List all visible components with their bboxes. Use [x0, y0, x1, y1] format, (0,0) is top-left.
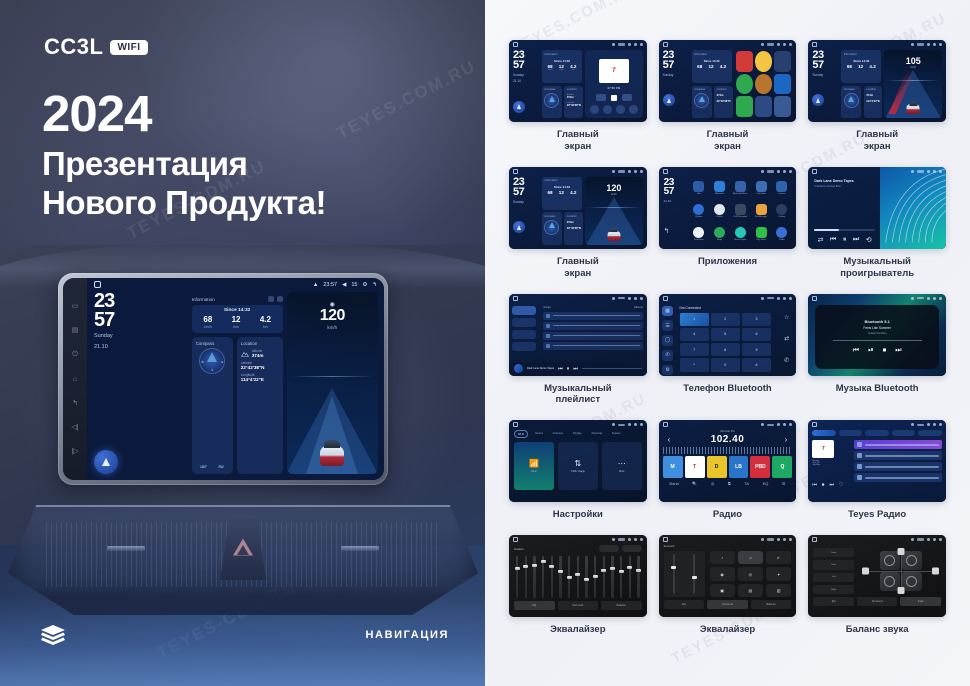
back-icon[interactable]: ↰	[72, 400, 78, 407]
app-icon-play-store[interactable]	[736, 96, 753, 117]
stereo-button[interactable]: ⧉	[728, 481, 731, 486]
tab-fm1[interactable]	[812, 430, 836, 436]
equalizer-bands[interactable]	[514, 556, 642, 598]
pause-icon[interactable]: ⏸	[567, 366, 570, 372]
tab-sound[interactable]: Sound	[532, 430, 546, 438]
prev-icon[interactable]: ⏮	[830, 236, 836, 244]
sidebar-item-artists[interactable]	[512, 342, 536, 351]
dial-key[interactable]: 8	[711, 343, 740, 356]
clock-weekday: Sunday	[513, 200, 539, 204]
altitude-value: 374m	[717, 94, 731, 97]
tab-wifi[interactable]: Wi-Fi	[514, 430, 528, 438]
grid-item[interactable]: 23 57 21.10 ↰ Wifi Bluetooth Bluetooth M…	[659, 167, 797, 280]
hud-speed-unit: km/h	[884, 66, 942, 69]
stat-value: 12	[858, 65, 863, 70]
thumbnail-apps[interactable]: 23 57 21.10 ↰ Wifi Bluetooth Bluetooth M…	[659, 167, 797, 249]
grid-item[interactable]: 23 57 Sunday Information Since 14:32 68	[659, 40, 797, 153]
grid-item-caption: Музыкальный плейлист	[544, 383, 612, 407]
app-item[interactable]: Camera	[773, 178, 792, 199]
grid-item[interactable]: 23 57 Sunday Information Since 14:32 68	[509, 167, 647, 280]
app-item[interactable]: Wifi	[689, 178, 708, 199]
hero-title-line1: Презентация	[42, 145, 326, 184]
stat-value: 4.2	[869, 65, 875, 70]
eq-band-slider[interactable]	[585, 556, 587, 598]
balance-tabs[interactable]: EQ Surround Fade	[813, 597, 941, 606]
clock-minutes: 57	[513, 187, 539, 197]
app-item[interactable]: Gallery	[773, 201, 792, 222]
stat-unit: km/h	[548, 69, 553, 71]
app-item[interactable]: Chrome	[689, 201, 708, 222]
balance-pad[interactable]	[860, 548, 941, 594]
preset-button[interactable]: D	[707, 456, 727, 478]
stat-unit: km	[260, 325, 271, 329]
app-icon-music[interactable]	[736, 51, 753, 72]
tab-songs[interactable]: Songs	[543, 306, 550, 309]
tab-surround[interactable]: Surround	[857, 597, 898, 606]
station-row[interactable]	[854, 440, 942, 449]
app-label: DVR Recorder	[734, 216, 748, 218]
eq-band-slider[interactable]	[629, 556, 631, 598]
stop-icon[interactable]: ⏹	[883, 347, 887, 355]
app-item[interactable]: Carlink	[710, 201, 729, 222]
stat-value: 68	[203, 316, 212, 324]
shuffle-icon[interactable]: ⇄	[818, 236, 824, 244]
app-item[interactable]: Radio	[773, 224, 792, 245]
compass-title: Compass	[544, 215, 559, 218]
tab-channels[interactable]	[839, 430, 863, 436]
track-artist: Cranberry Groove Bird	[814, 185, 875, 188]
balance-node-left[interactable]	[862, 568, 869, 575]
thumbnail-home-media[interactable]: 23 57 Sunday 21.10 Information Since 14:…	[509, 40, 647, 122]
dial-key[interactable]: 3	[742, 313, 771, 326]
preset-rear[interactable]: Rear	[813, 560, 854, 569]
equalizer-tabs[interactable]: EQ Surround Balance	[664, 600, 792, 609]
preset-button[interactable]: ◎	[738, 567, 763, 580]
stat-speed: 68 km/h	[203, 316, 212, 329]
dial-key[interactable]: 0	[711, 358, 740, 371]
grid-item[interactable]: Surround ♪ ♫ ♬ ◉ ◎	[659, 535, 797, 636]
preset-button[interactable]: ▣	[710, 584, 735, 597]
dial-key[interactable]: #	[742, 358, 771, 371]
tab-balance[interactable]: Balance	[751, 600, 792, 609]
tab-common[interactable]: Common	[550, 430, 567, 438]
app-label: Bluetooth Music	[733, 193, 748, 195]
altitude-value: 374m	[567, 221, 581, 224]
grid-item[interactable]: Front Rear Left Right	[808, 535, 946, 636]
navigation-hud-panel[interactable]: 120 km/h	[585, 177, 643, 245]
app-icon-navi[interactable]	[774, 51, 791, 72]
app-item[interactable]: Music Player	[731, 224, 750, 245]
next-icon[interactable]: ⏭	[829, 482, 834, 488]
preset-right[interactable]: Right	[813, 585, 854, 594]
prev-icon[interactable]	[596, 94, 606, 101]
gear-icon[interactable]: ⚙	[362, 282, 367, 288]
dial-key[interactable]: 7	[680, 343, 709, 356]
next-icon[interactable]: ⏭	[573, 366, 578, 372]
shuffle-icon[interactable]	[590, 105, 599, 114]
tab-display[interactable]: Display	[570, 430, 585, 438]
app-shortcuts[interactable]	[735, 50, 793, 118]
balance-node-rear[interactable]	[897, 587, 904, 594]
pause-icon[interactable]: ⏸	[843, 236, 847, 244]
preset-button[interactable]: ▤	[738, 584, 763, 597]
grid-item[interactable]: ▦ ☰ ◯ ✆ ⚙ Not Connected 1 2 3	[659, 294, 797, 407]
thumbnail-equalizer-surround[interactable]: Surround ♪ ♫ ♬ ◉ ◎	[659, 535, 797, 617]
thumbnail-settings[interactable]: Wi-Fi Sound Common Display Personal Syst…	[509, 420, 647, 502]
favorite-icon[interactable]: ♡	[839, 482, 843, 488]
loc-button[interactable]: ◎	[711, 481, 715, 486]
app-item[interactable]: Bluetooth	[710, 178, 729, 199]
tab-eq[interactable]: EQ	[664, 600, 705, 609]
tab-eq[interactable]: EQ	[813, 597, 854, 606]
app-item[interactable]: Kinoafisha	[689, 224, 708, 245]
head-unit-screen[interactable]: ▲ 23:57 ◀ 15 ⚙ ↰ 23 57	[87, 278, 384, 480]
surround-presets[interactable]: ♪ ♫ ♬ ◉ ◎ ✦ ▣ ▤ ▥	[710, 551, 792, 597]
preset-front[interactable]: Front	[813, 548, 854, 557]
clock-weekday: Sunday	[663, 73, 689, 77]
tab-surround[interactable]: Surround	[558, 601, 599, 610]
hud-speed: 105	[884, 57, 942, 66]
app-item[interactable]: Calculator	[752, 178, 771, 199]
track-row[interactable]	[543, 332, 642, 340]
next-icon[interactable]: ⏭	[895, 347, 901, 355]
grid-item[interactable]: Custom	[509, 535, 647, 636]
home-icon[interactable]: ⌂	[73, 376, 77, 383]
app-item[interactable]: Maps	[710, 224, 729, 245]
settings-card-traffic[interactable]: ⇅ Traffic Usage	[558, 442, 598, 490]
radio-frequency: 102.40	[711, 434, 745, 445]
eq-band-slider[interactable]	[594, 556, 596, 598]
app-launcher-grid[interactable]: Wifi Bluetooth Bluetooth Music Calculato…	[689, 178, 791, 245]
stat-unit: km	[570, 69, 576, 71]
settings-card-label: More	[619, 470, 624, 473]
balance-presets[interactable]: Front Rear Left Right	[813, 548, 854, 594]
stop-icon[interactable]	[611, 95, 617, 101]
radio-band-label: Mexican FM	[663, 430, 793, 433]
compass-dial	[544, 220, 559, 235]
contacts-icon[interactable]: ☰	[662, 320, 673, 331]
radio-presets[interactable]: M T D LB PBD Q	[663, 456, 793, 478]
app-icon-video[interactable]	[774, 74, 791, 95]
settings-tabs[interactable]: Wi-Fi Sound Common Display Personal Syst…	[514, 430, 642, 438]
balance-node-right[interactable]	[932, 568, 939, 575]
bluetooth-version: Bluetooth 5.1	[864, 319, 889, 324]
play-pause-icon[interactable]: ⏯	[868, 347, 874, 355]
repeat-icon[interactable]: ⟲	[866, 236, 872, 244]
app-icon-radio[interactable]	[755, 74, 772, 95]
slider[interactable]	[693, 554, 695, 594]
preset-button[interactable]: ♫	[738, 551, 763, 564]
thumbnail-home-apps[interactable]: 23 57 Sunday Information Since 14:32 68	[659, 40, 797, 122]
hero-footer	[0, 596, 485, 686]
dial-key[interactable]: 6	[742, 328, 771, 341]
thumbnail-radio[interactable]: Mexican FM ‹ 102.40 › M T D LB PBD	[659, 420, 797, 502]
tab-fade[interactable]: Fade	[900, 597, 941, 606]
app-label: Gallery	[779, 216, 786, 218]
preset-button[interactable]: ◉	[710, 567, 735, 580]
preset-button[interactable]: ♬	[766, 551, 791, 564]
stat-value: 12	[559, 191, 564, 196]
preset-left[interactable]: Left	[813, 573, 854, 582]
eq-band-slider[interactable]	[620, 556, 622, 598]
compass-dial	[544, 93, 559, 108]
surround-sliders[interactable]	[664, 551, 705, 597]
dialpad-icon[interactable]: ▦	[662, 306, 673, 317]
grid-item[interactable]: 23 57 Sunday 21.10 Information Since 14:…	[509, 40, 647, 153]
tab-eq[interactable]: EQ	[514, 601, 555, 610]
track-row[interactable]	[543, 312, 642, 320]
list-icon[interactable]: ☰	[782, 481, 786, 486]
altitude-value: 374m	[252, 353, 264, 358]
grid-item-caption: Музыкальный проигрыватель	[840, 256, 914, 280]
dial-key[interactable]: 2	[711, 313, 740, 326]
volume-down-icon[interactable]: ◁|	[71, 424, 78, 431]
star-icon[interactable]: ☆	[784, 314, 789, 321]
tab-albums[interactable]: Albums	[634, 306, 643, 309]
app-label: Kinoafisha	[694, 239, 704, 241]
dial-key[interactable]: *	[680, 358, 709, 371]
call-history-icon[interactable]: ✆	[662, 350, 673, 361]
more-icon: ⋯	[618, 459, 626, 468]
navigation-arrow-icon[interactable]	[663, 94, 675, 106]
refresh-icon[interactable]	[268, 296, 274, 302]
radio-toolbar[interactable]: Band 🔍 ◎ ⧉ TA EQ ☰	[663, 481, 793, 486]
tab-sleep[interactable]	[865, 430, 889, 436]
tab-surround[interactable]: Surround	[707, 600, 748, 609]
thumbnail-bluetooth-phone[interactable]: ▦ ☰ ◯ ✆ ⚙ Not Connected 1 2 3	[659, 294, 797, 376]
preset-button[interactable]: ✦	[766, 567, 791, 580]
app-item[interactable]: DVR Recorder	[731, 201, 750, 222]
compass-e: E	[221, 360, 223, 364]
grid-item[interactable]: Bluetooth 5.1 Feels Like Summer Coldest …	[808, 294, 946, 407]
dial-key[interactable]: 4	[680, 328, 709, 341]
settings-card-label: Wi-Fi	[531, 470, 537, 473]
app-icon-grid[interactable]	[774, 96, 791, 117]
album-art: T	[812, 440, 834, 458]
app-label: Maps	[717, 239, 722, 241]
app-icon-settings[interactable]	[755, 51, 772, 72]
head-unit-side-rail[interactable]: ▭ ▤ ⏻ ⌂ ↰ ◁| |▷	[63, 278, 87, 480]
now-playing-bar[interactable]: Dark Lane Demo Tapes ⏮ ⏸ ⏭	[509, 362, 647, 376]
grid-item[interactable]: 23 57 Sunday Information Since 14:32 68	[808, 40, 946, 153]
clock-weekday: Sunday	[513, 73, 539, 77]
eq-band-slider[interactable]	[533, 556, 535, 598]
eq-icon[interactable]: ▤	[72, 327, 79, 334]
progress-bar[interactable]	[814, 229, 875, 231]
app-item[interactable]: Play Store	[752, 224, 771, 245]
traffic-icon: ⇅	[574, 459, 581, 468]
eq-band-slider[interactable]	[516, 556, 518, 598]
app-icon-files[interactable]	[755, 96, 772, 117]
reset-button[interactable]	[622, 545, 642, 552]
eq-band-slider[interactable]	[637, 556, 639, 598]
compass-s: S	[211, 368, 213, 372]
sidebar-item-tracks[interactable]	[512, 306, 536, 315]
next-station-icon[interactable]: ›	[785, 435, 788, 444]
compass-title: Compass	[694, 88, 709, 91]
watermark: TEYES.COM.RU	[334, 56, 480, 143]
station-row[interactable]	[854, 473, 942, 482]
slider[interactable]	[673, 554, 675, 594]
station-row[interactable]	[854, 451, 942, 460]
progress-bar[interactable]	[833, 340, 922, 341]
navigation-hud-panel[interactable]: 105 km/h	[884, 50, 942, 118]
back-icon[interactable]: ↰	[372, 282, 377, 288]
phone-icon[interactable]: ✆	[784, 357, 789, 364]
tab-system[interactable]: System	[609, 430, 624, 438]
clock-minutes: 57	[663, 60, 689, 70]
dial-key[interactable]: 1	[680, 313, 709, 326]
track-row[interactable]	[543, 342, 642, 350]
eq-band-slider[interactable]	[559, 556, 561, 598]
tab-balance[interactable]: Balance	[601, 601, 642, 610]
stat-value: 12	[232, 316, 241, 324]
mute-icon[interactable]: ▭	[72, 303, 79, 310]
app-label: Radio	[779, 239, 784, 241]
since-label: Since 14:32	[544, 185, 579, 189]
navigation-hud-panel[interactable]: ◉ 120 km/h	[287, 292, 378, 474]
prev-station-icon[interactable]: ‹	[668, 435, 671, 444]
contacts-icon[interactable]: ⇄	[784, 335, 789, 342]
speaker-rear-right	[902, 572, 922, 591]
compass-direction-pill	[553, 110, 560, 115]
clock-minutes: 57	[664, 187, 686, 197]
media-widget[interactable]: T 07:50 PM	[585, 50, 643, 118]
thumbnail-home-nav-105[interactable]: 23 57 Sunday Information Since 14:32 68	[808, 40, 946, 122]
thumbnail-bluetooth-music[interactable]: Bluetooth 5.1 Feels Like Summer Coldest …	[808, 294, 946, 376]
tab-personal[interactable]: Personal	[589, 430, 605, 438]
clock-minutes: 57	[94, 311, 188, 330]
stat-unit: km/h	[203, 325, 212, 329]
settings-card-wifi[interactable]: 📶 Wi-Fi	[514, 442, 554, 490]
album-art	[514, 364, 523, 373]
teyes-tabs[interactable]	[812, 430, 942, 436]
equalizer-tabs[interactable]: EQ Surround Balance	[514, 601, 642, 610]
compass-title: Compass	[544, 88, 559, 91]
sidebar-item-all[interactable]	[512, 318, 536, 327]
thumbnail-music-player[interactable]: Dark Lane Demo Tapes Cranberry Groove Bi…	[808, 167, 946, 249]
stat-value: 12	[708, 65, 713, 70]
next-icon[interactable]	[622, 94, 632, 101]
navigation-arrow-icon[interactable]	[513, 221, 525, 233]
phone-sidebar[interactable]: ▦ ☰ ◯ ✆ ⚙	[659, 303, 677, 376]
eq-band-slider[interactable]	[542, 556, 544, 598]
back-icon[interactable]	[603, 105, 612, 114]
eq-band-slider[interactable]	[568, 556, 570, 598]
sidebar-item-favorites[interactable]	[512, 330, 536, 339]
volume-up-icon[interactable]: |▷	[71, 448, 78, 455]
navigation-arrow-icon[interactable]	[812, 94, 824, 106]
preset-button[interactable]: ▥	[766, 584, 791, 597]
altitude-value: 374m	[866, 94, 880, 97]
eq-button[interactable]: EQ	[763, 481, 769, 486]
navigation-arrow-icon[interactable]	[513, 101, 525, 113]
thumbnail-playlist[interactable]: Songs Albums Dar	[509, 294, 647, 376]
car-avatar	[606, 228, 621, 241]
tab-favorite[interactable]	[892, 430, 916, 436]
app-item[interactable]: FileManager	[752, 201, 771, 222]
search-icon[interactable]: ◯	[662, 335, 673, 346]
dialpad[interactable]: 1 2 3 4 5 6 7 8 9 * 0 #	[680, 313, 772, 372]
home-icon[interactable]	[94, 281, 101, 288]
navigation-arrow-icon[interactable]	[94, 450, 118, 474]
grid-item[interactable]: Mexican FM ‹ 102.40 › M T D LB PBD	[659, 420, 797, 521]
balance-node-front[interactable]	[897, 548, 904, 555]
preset-button[interactable]: ♪	[710, 551, 735, 564]
eq-band-slider[interactable]	[551, 556, 553, 598]
power-icon[interactable]: ⏻	[72, 351, 78, 358]
back-icon[interactable]: ↰	[664, 227, 686, 235]
settings-card-more[interactable]: ⋯ More	[602, 442, 642, 490]
prev-icon[interactable]: ⏮	[558, 366, 563, 372]
preset-selector[interactable]	[599, 545, 619, 552]
now-playing-title: Dark Lane Demo Tapes	[527, 367, 554, 370]
grid-item[interactable]: T Genres The Hit Top Hits ⏮ ⏹ ⏭	[808, 420, 946, 521]
compass-title: Compass	[844, 88, 859, 91]
grid-item-caption: Музыка Bluetooth	[836, 383, 919, 395]
expand-icon[interactable]	[277, 296, 283, 302]
tab-browse[interactable]	[918, 430, 942, 436]
prev-icon[interactable]: ⏮	[853, 347, 859, 355]
location-title: Location	[567, 215, 581, 218]
dial-key[interactable]: 5	[711, 328, 740, 341]
app-label: Chrome	[695, 216, 702, 218]
frequency-scale[interactable]	[663, 447, 793, 454]
eq-band-slider[interactable]	[611, 556, 613, 598]
grid-item[interactable]: Songs Albums Dar	[509, 294, 647, 407]
grid-item[interactable]: Dark Lane Demo Tapes Cranberry Groove Bi…	[808, 167, 946, 280]
eq-band-slider[interactable]	[577, 556, 579, 598]
preset-button[interactable]: Q	[772, 456, 792, 478]
band-button[interactable]: Band	[669, 481, 678, 486]
thumbnail-home-nav-120[interactable]: 23 57 Sunday Information Since 14:32 68	[509, 167, 647, 249]
preset-button[interactable]: PBD	[750, 456, 770, 478]
thumbnail-sound-balance[interactable]: Front Rear Left Right	[808, 535, 946, 617]
more-icon[interactable]	[629, 105, 638, 114]
preset-button[interactable]: M	[663, 456, 683, 478]
app-icon-phone[interactable]	[736, 74, 753, 95]
preset-button[interactable]: T	[685, 456, 705, 478]
eq-band-slider[interactable]	[525, 556, 527, 598]
app-item[interactable]: Bluetooth Music	[731, 178, 750, 199]
list-icon[interactable]	[616, 105, 625, 114]
information-title: Information	[694, 53, 729, 56]
track-row[interactable]	[543, 322, 642, 330]
gear-icon[interactable]: ⚙	[662, 365, 673, 376]
prev-icon[interactable]: ⏮	[812, 482, 817, 488]
preset-button[interactable]: LB	[729, 456, 749, 478]
thumbnail-teyes-radio[interactable]: T Genres The Hit Top Hits ⏮ ⏹ ⏭	[808, 420, 946, 502]
thumbnail-equalizer[interactable]: Custom	[509, 535, 647, 617]
stop-icon[interactable]: ⏹	[822, 482, 825, 488]
vent-slot-left	[107, 546, 145, 551]
logo-text: CC3L	[44, 34, 103, 60]
next-icon[interactable]: ⏭	[853, 236, 859, 244]
progress-bar[interactable]	[582, 368, 642, 370]
grid-item[interactable]: Wi-Fi Sound Common Display Personal Syst…	[509, 420, 647, 521]
af-button[interactable]: TA	[744, 481, 749, 486]
phone-number-field[interactable]: Not Connected	[680, 306, 772, 310]
eq-band-slider[interactable]	[603, 556, 605, 598]
grid-item-caption: Эквалайзер	[700, 624, 755, 636]
station-row[interactable]	[854, 462, 942, 471]
presentation-root: TEYES-CDM.RU TEYES.COM.RU TEYES-CDM.RU C…	[0, 0, 970, 686]
search-icon[interactable]: 🔍	[692, 481, 697, 486]
app-label: Calculator	[756, 193, 765, 195]
station-list[interactable]	[854, 440, 942, 488]
dial-key[interactable]: 9	[742, 343, 771, 356]
product-logo: CC3L WIFI	[44, 34, 148, 60]
